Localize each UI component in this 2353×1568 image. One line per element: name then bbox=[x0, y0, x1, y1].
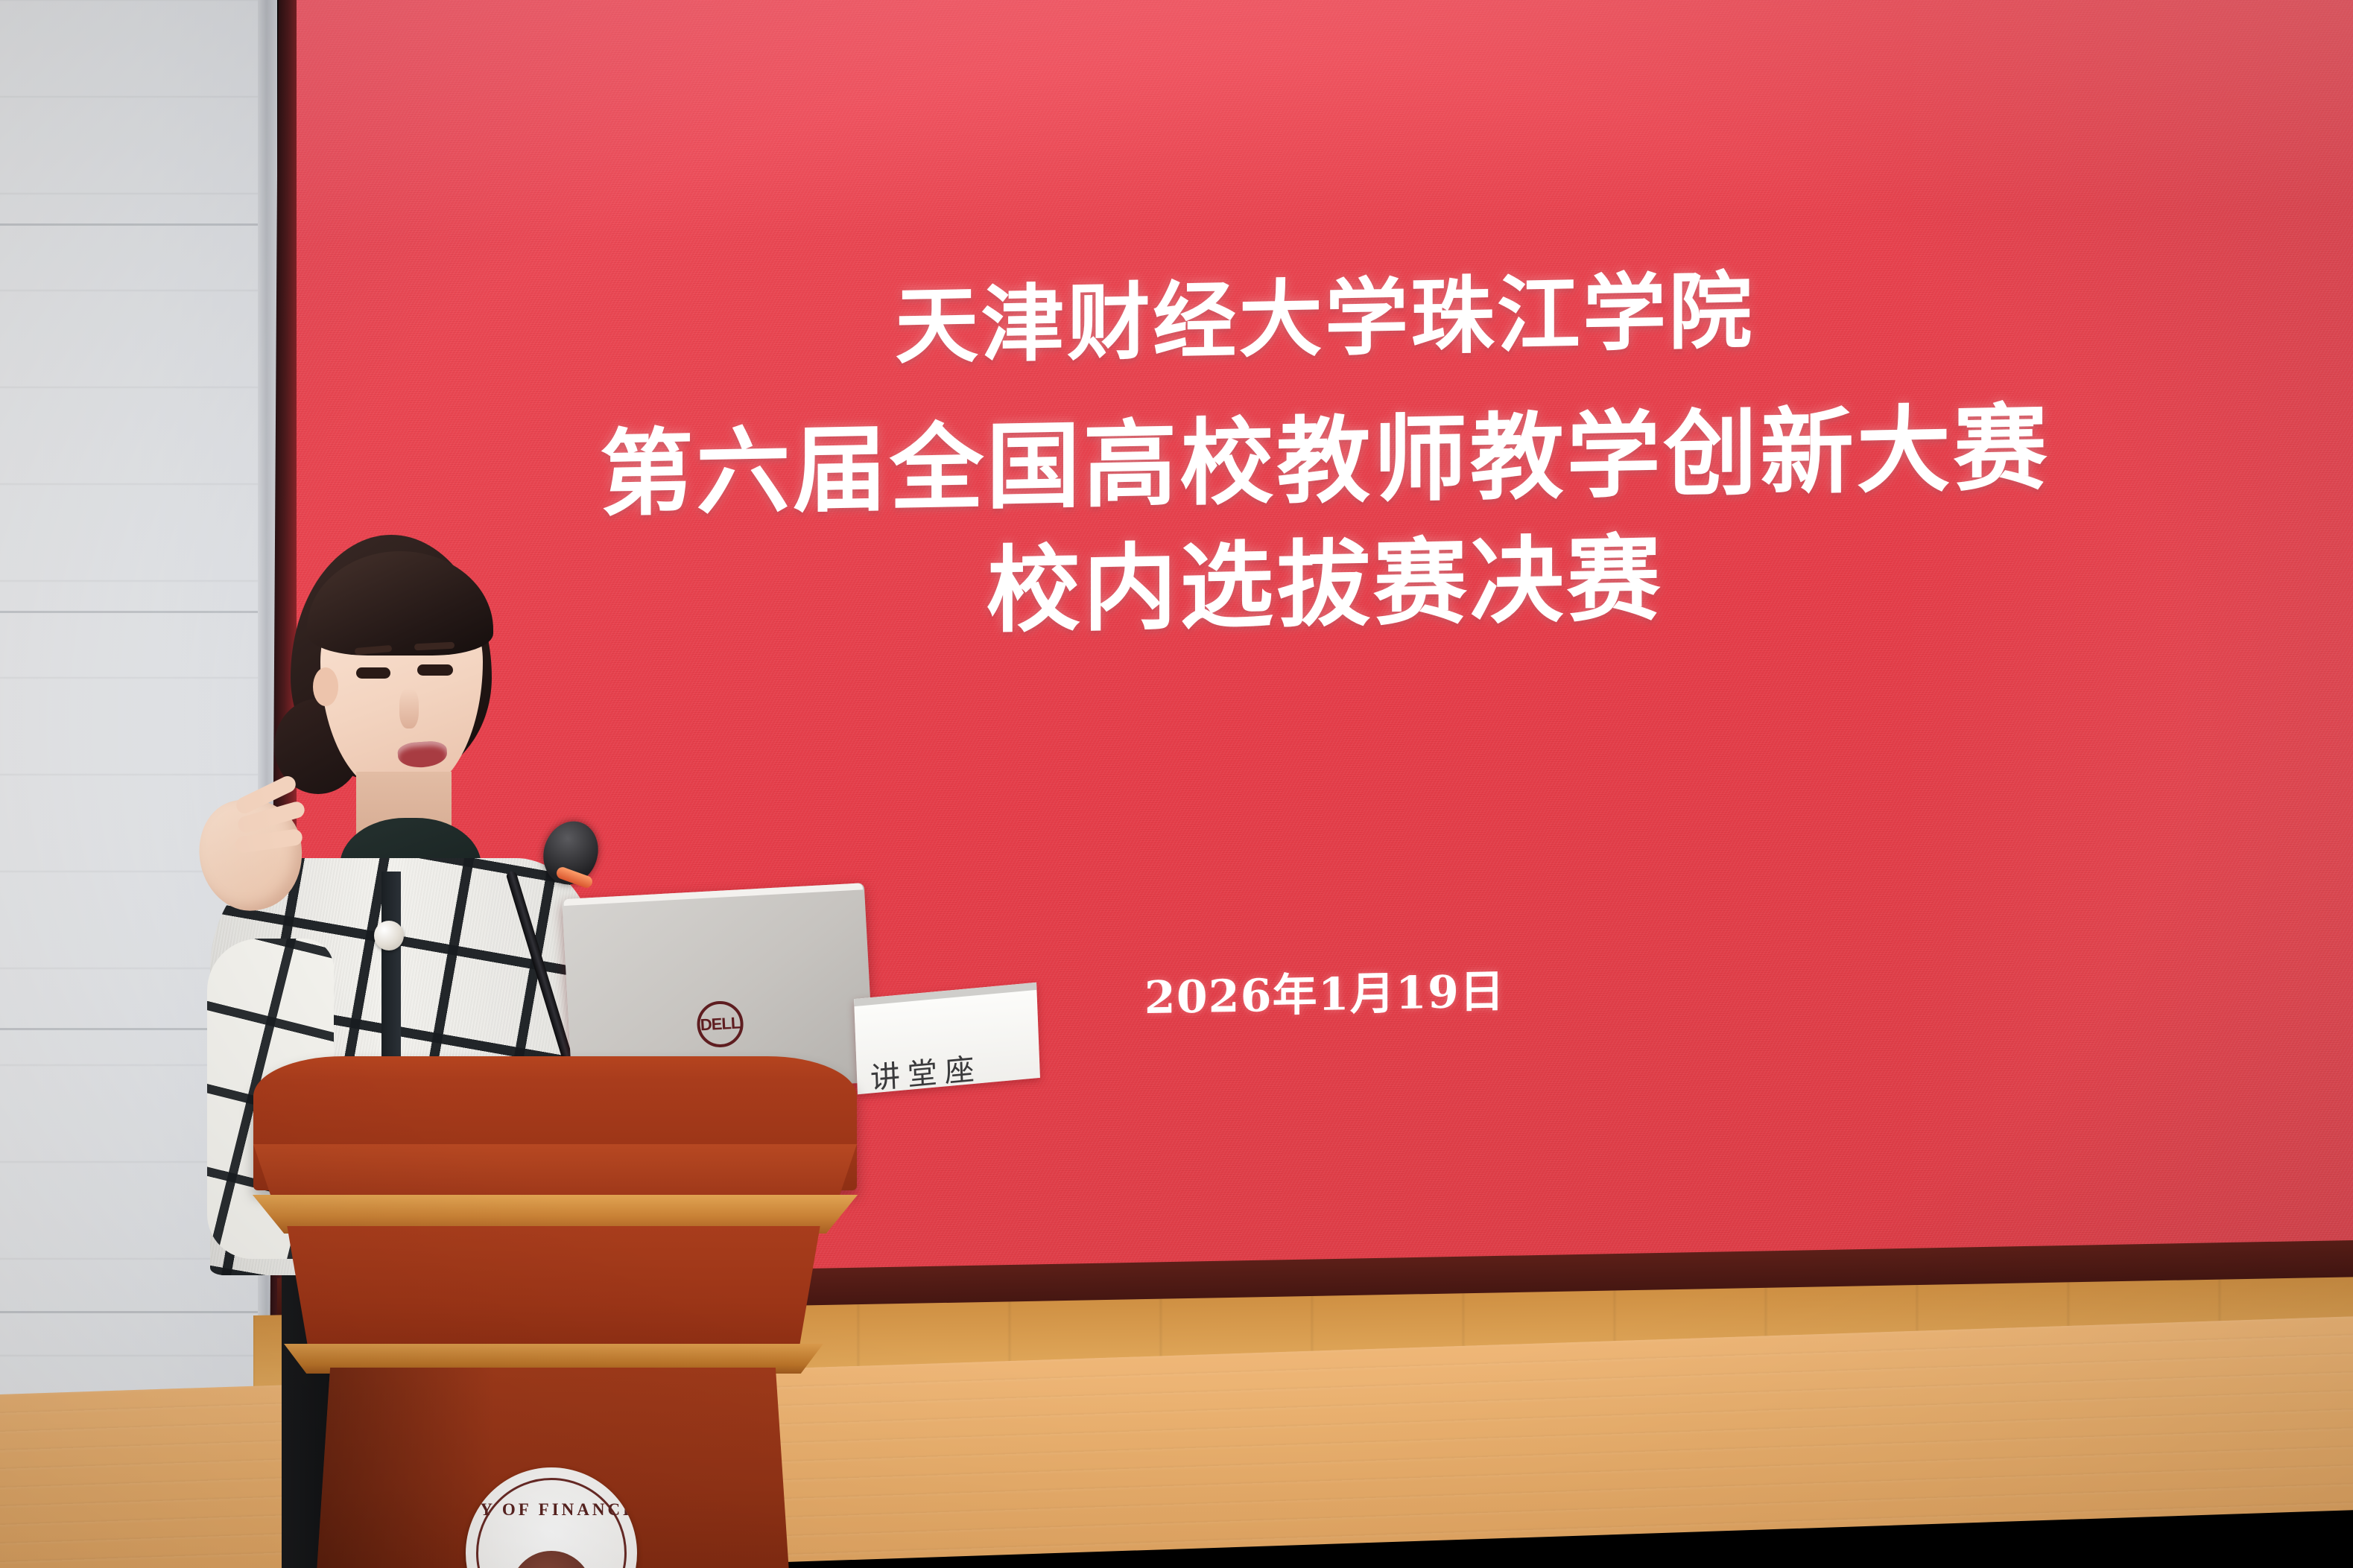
screen-title-line-2: 第六届全国高校教师教学创新大赛 bbox=[297, 396, 2353, 527]
podium-mid-section bbox=[282, 1226, 826, 1353]
presenter-eye-right bbox=[417, 664, 453, 676]
screen-title-line-1: 天津财经大学珠江学院 bbox=[297, 258, 2353, 380]
dell-logo-icon: DELL bbox=[696, 1000, 744, 1048]
presenter-ear bbox=[313, 667, 338, 706]
presenter-nose bbox=[399, 688, 419, 729]
emblem-text: TY OF FINANCE bbox=[466, 1500, 637, 1520]
stage-photo-scene: 天津财经大学珠江学院 第六届全国高校教师教学创新大赛 校内选拔赛决赛 2026年… bbox=[0, 0, 2353, 1568]
wall-seam bbox=[0, 223, 277, 226]
speaking-podium: TY OF FINANCE bbox=[224, 1056, 879, 1568]
presenter-eye-left bbox=[356, 667, 390, 679]
table-name-card: 讲堂座 bbox=[854, 983, 1040, 1094]
presenter-cardigan-button bbox=[374, 921, 404, 950]
